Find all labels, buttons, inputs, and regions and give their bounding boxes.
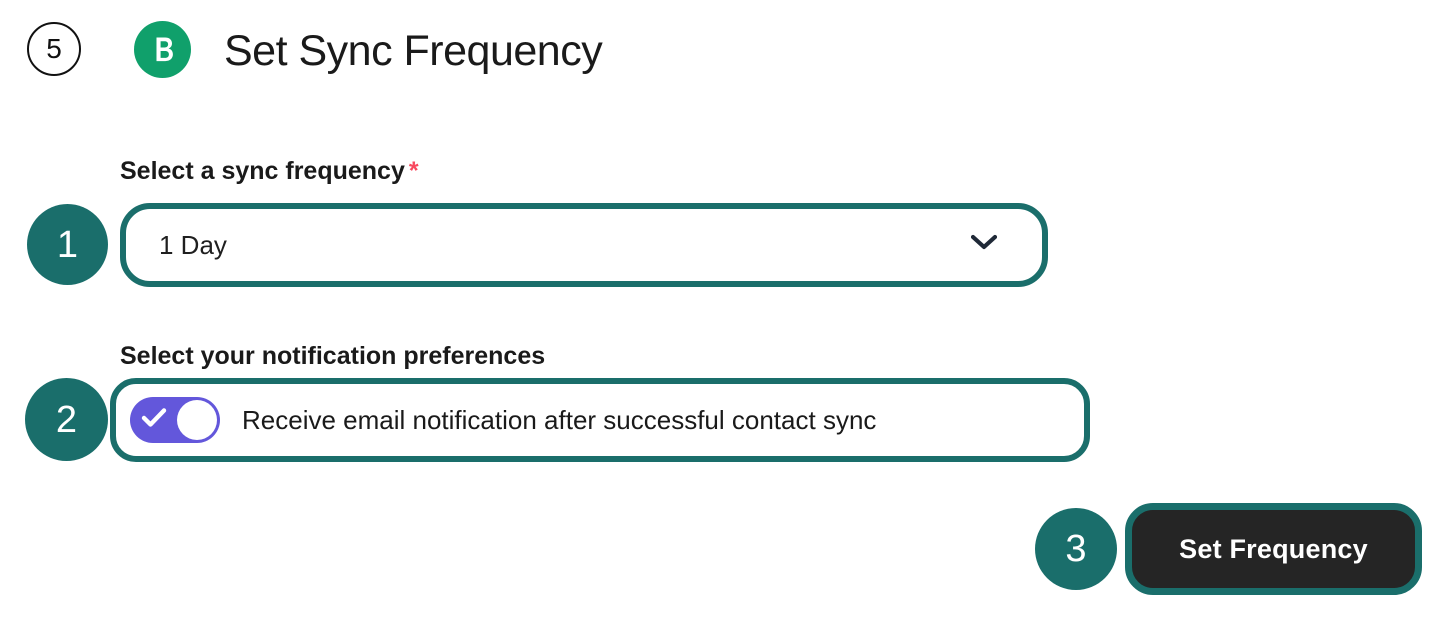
sync-frequency-select[interactable]: 1 Day — [120, 203, 1048, 287]
notifications-field-label: Select your notification preferences — [120, 341, 545, 371]
check-icon — [141, 407, 167, 434]
page-header: 5 Set Sync Frequency — [0, 0, 1456, 110]
email-notification-row[interactable]: Receive email notification after success… — [110, 378, 1090, 462]
step-number-badge: 5 — [27, 22, 81, 76]
toggle-knob — [177, 400, 217, 440]
annotation-badge-3: 3 — [1035, 508, 1117, 590]
frequency-label-text: Select a sync frequency — [120, 157, 405, 185]
set-frequency-button[interactable]: Set Frequency — [1125, 503, 1422, 595]
brand-logo-b-icon — [134, 21, 191, 78]
required-asterisk: * — [409, 157, 419, 185]
sync-frequency-selected-value: 1 Day — [159, 230, 227, 260]
frequency-field-label: Select a sync frequency* — [120, 156, 419, 186]
chevron-down-icon — [971, 235, 997, 256]
annotation-badge-2: 2 — [25, 378, 108, 461]
email-notification-toggle[interactable] — [130, 397, 220, 443]
email-notification-label: Receive email notification after success… — [242, 405, 876, 435]
page-title: Set Sync Frequency — [224, 22, 602, 80]
annotation-badge-1: 1 — [27, 204, 108, 285]
